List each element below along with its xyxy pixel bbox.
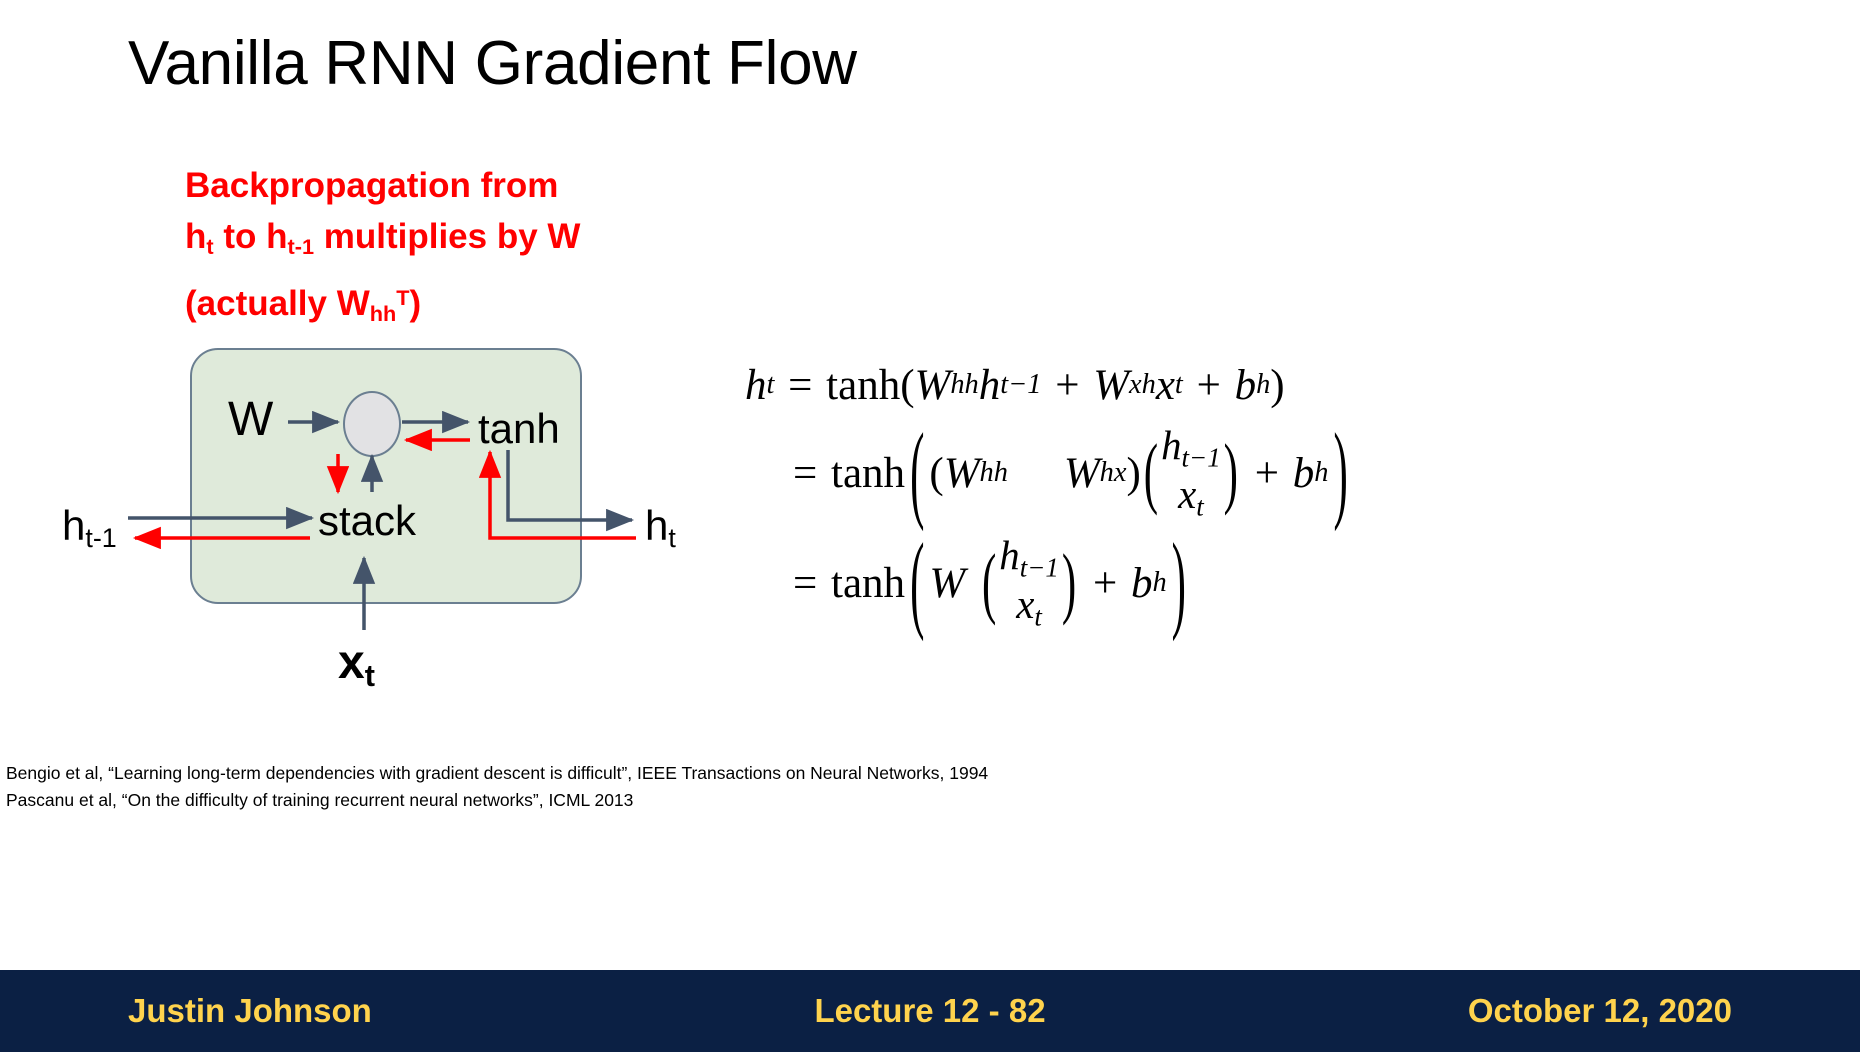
h-out-label: ht [645,502,676,554]
weight-label: W [228,392,273,447]
stack-label: stack [318,497,416,545]
arrow-grad-ht-to-tanh [490,452,636,538]
annotation-line-1: Backpropagation from [185,160,580,211]
equation-line-1: ht = tanh( Whh ht−1 + Wxh xt + bh ) [745,352,1805,418]
citation-item: Bengio et al, “Learning long-term depend… [6,760,988,787]
citation-item: Pascanu et al, “On the difficulty of tra… [6,787,988,814]
slide-root: Vanilla RNN Gradient Flow Backpropagatio… [0,0,1860,1052]
open-paren-large: ( [905,411,929,536]
citation-list: Bengio et al, “Learning long-term depend… [6,760,988,814]
slide-footer: Justin Johnson Lecture 12 - 82 October 1… [0,970,1860,1052]
rnn-cell-diagram: W tanh stack ht-1 ht xt [0,330,760,730]
equation-block: ht = tanh( Whh ht−1 + Wxh xt + bh ) = ta… [745,352,1805,638]
footer-presenter: Justin Johnson [128,992,372,1030]
footer-date: October 12, 2020 [1468,992,1732,1030]
arrow-tanh-to-ht [508,450,632,520]
annotation-line-3: (actually WhhT) [185,272,580,339]
column-vector: ht−1 xt [1161,424,1221,521]
equation-line-2: = tanh ( ( Whh Whx ) ( ht−1 xt ) + bh ) [745,418,1805,528]
equation-line-3: = tanh ( W ( ht−1 xt ) + bh ) [745,528,1805,638]
column-vector: ht−1 xt [999,534,1059,631]
backprop-annotation: Backpropagation from ht to ht-1 multipli… [185,160,580,339]
tanh-label: tanh [478,405,560,453]
annotation-line-2: ht to ht-1 multiplies by W [185,211,580,272]
page-title: Vanilla RNN Gradient Flow [128,28,857,99]
h-prev-label: ht-1 [62,502,117,554]
x-input-label: xt [338,635,375,694]
footer-lecture-number: Lecture 12 - 82 [814,992,1045,1030]
